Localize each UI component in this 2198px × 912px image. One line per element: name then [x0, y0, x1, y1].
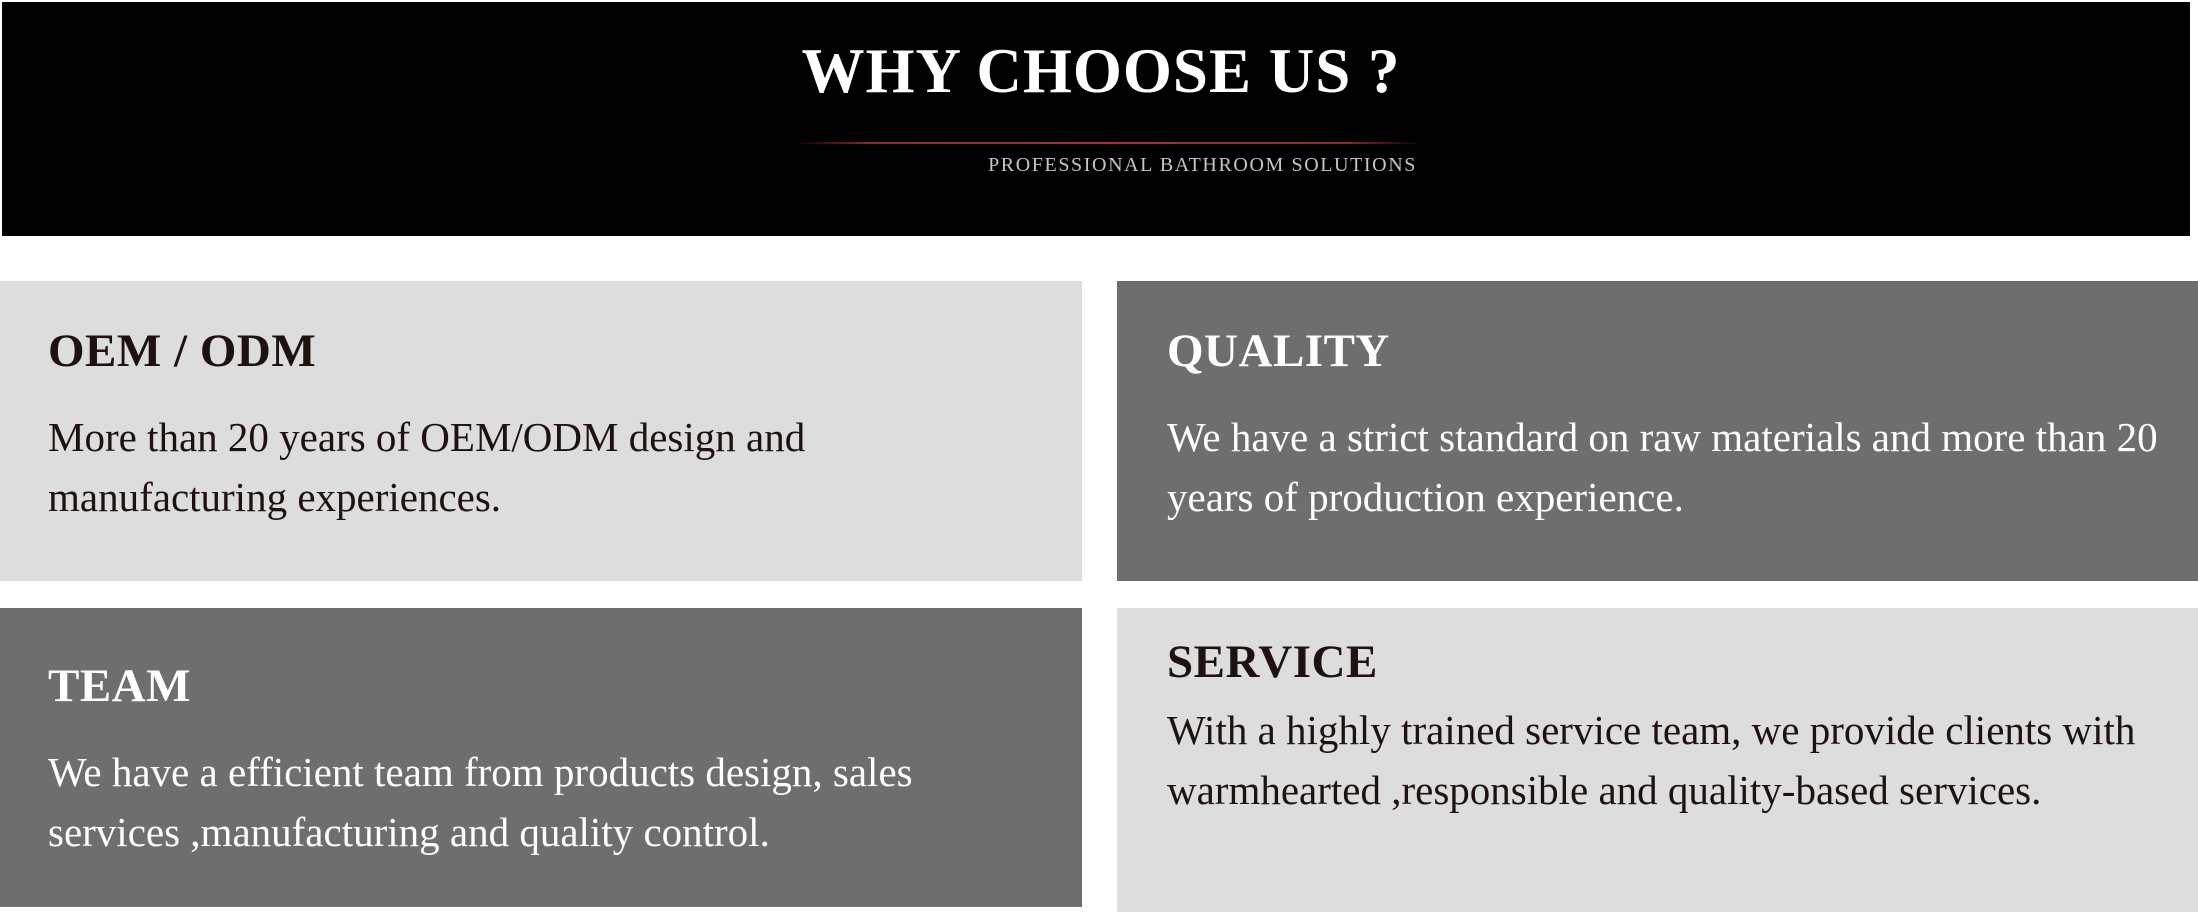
title-divider-rule — [799, 142, 1417, 144]
page-title: WHY CHOOSE US ? — [2, 36, 2190, 106]
card-body-service: With a highly trained service team, we p… — [1167, 700, 2158, 820]
card-title-quality: QUALITY — [1167, 325, 2158, 377]
card-title-team: TEAM — [48, 660, 1042, 712]
card-title-service: SERVICE — [1167, 636, 2158, 688]
feature-card-quality: QUALITY We have a strict standard on raw… — [1117, 281, 2198, 581]
card-body-quality: We have a strict standard on raw materia… — [1167, 407, 2158, 527]
feature-card-service: SERVICE With a highly trained service te… — [1117, 608, 2198, 912]
page-subtitle: PROFESSIONAL BATHROOM SOLUTIONS — [799, 152, 1417, 178]
header-banner: WHY CHOOSE US ? PROFESSIONAL BATHROOM SO… — [2, 2, 2190, 236]
feature-card-team: TEAM We have a efficient team from produ… — [0, 608, 1082, 907]
header-content: WHY CHOOSE US ? PROFESSIONAL BATHROOM SO… — [2, 2, 2190, 236]
card-body-team: We have a efficient team from products d… — [48, 742, 1042, 862]
card-body-oem-odm: More than 20 years of OEM/ODM design and… — [48, 407, 1042, 527]
card-title-oem-odm: OEM / ODM — [48, 325, 1042, 377]
feature-card-oem-odm: OEM / ODM More than 20 years of OEM/ODM … — [0, 281, 1082, 581]
